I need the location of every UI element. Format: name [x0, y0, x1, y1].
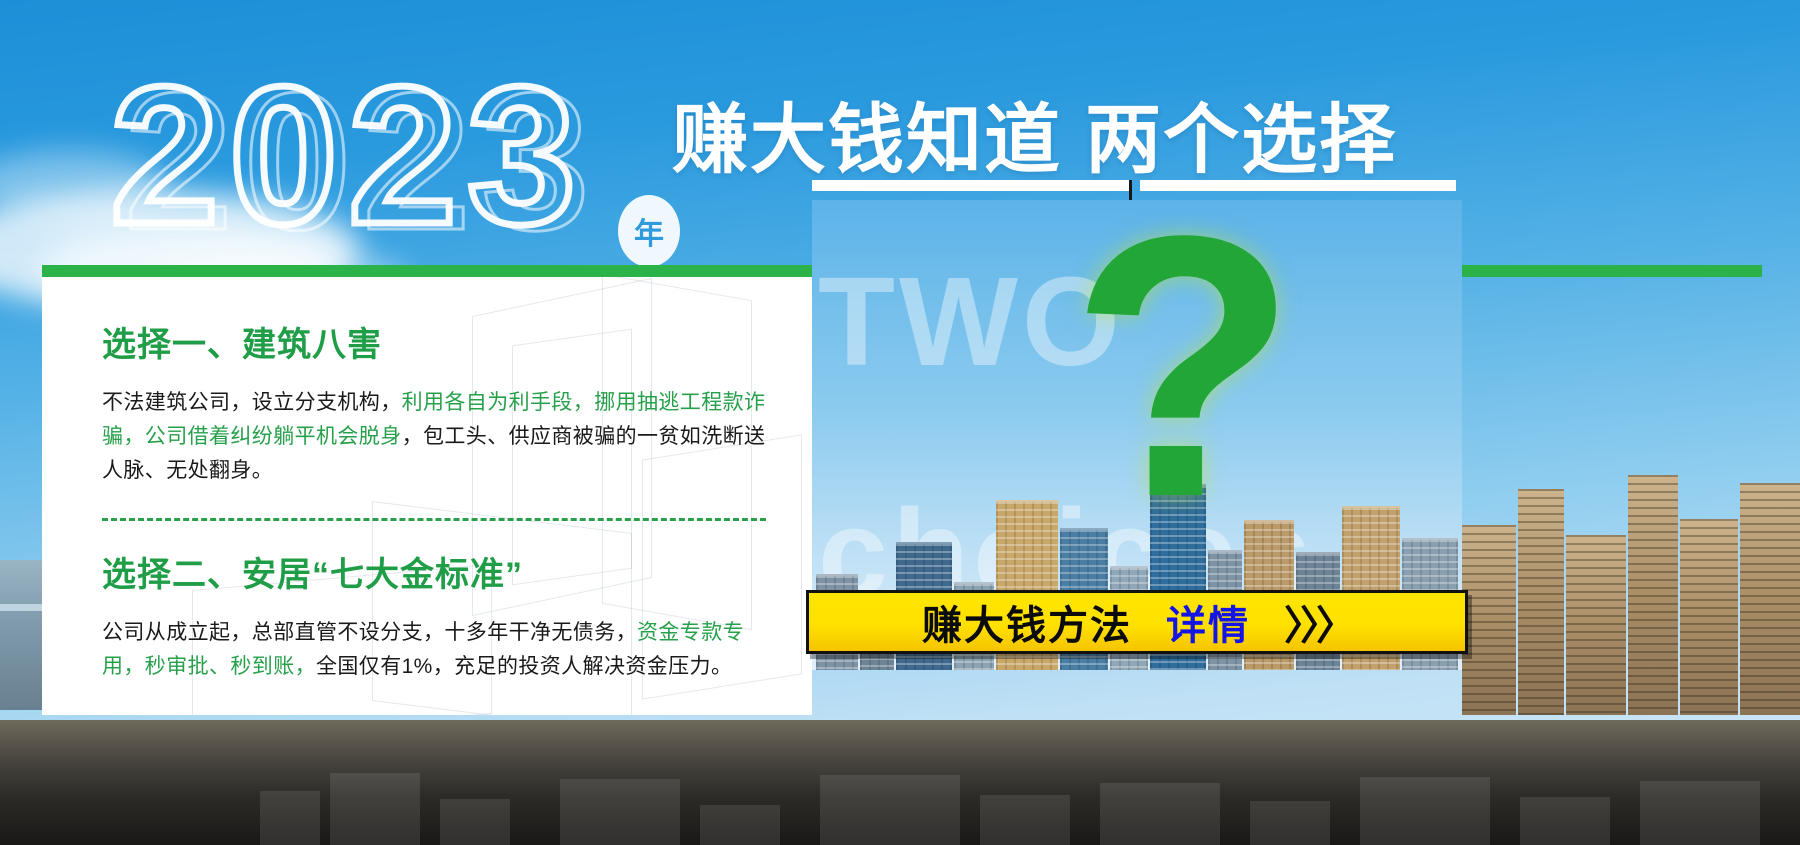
section-2-text-b: 全国仅有1%，充足的投资人解决资金压力。 [316, 655, 732, 678]
section-divider [102, 518, 766, 521]
cta-main-label: 赚大钱方法 [922, 593, 1132, 651]
strip-block [980, 795, 1070, 845]
strip-block [260, 791, 320, 845]
chevron-right-icon: 〉〉〉 [1284, 593, 1352, 651]
headline-rule-right [1140, 180, 1456, 191]
building [1628, 475, 1678, 715]
cta-detail-label: 详情 [1166, 593, 1250, 651]
strip-block [1360, 777, 1490, 845]
section-2-text-a: 公司从成立起，总部直管不设分支，十多年干净无债务， [102, 621, 637, 644]
building [1462, 525, 1516, 715]
bottom-strip [0, 720, 1800, 845]
building [1680, 519, 1738, 715]
strip-block [1640, 781, 1760, 845]
section-2-body: 公司从成立起，总部直管不设分支，十多年干净无债务，资金专款专用，秒审批、秒到账，… [102, 616, 766, 684]
strip-block [330, 773, 420, 845]
strip-block [560, 779, 680, 845]
strip-block [1100, 783, 1220, 845]
right-accent-bar [1462, 265, 1762, 277]
strip-block [1520, 797, 1610, 845]
strip-block [700, 805, 780, 845]
strip-block [440, 799, 510, 845]
card-content: 选择一、建筑八害 不法建筑公司，设立分支机构，利用各自为利手段，挪用抽逃工程款诈… [42, 265, 812, 684]
strip-blocks [0, 720, 1800, 845]
headline-rule-left [812, 180, 1130, 191]
strip-block [820, 775, 960, 845]
content-card: 选择一、建筑八害 不法建筑公司，设立分支机构，利用各自为利手段，挪用抽逃工程款诈… [42, 265, 812, 715]
cta-button[interactable]: 赚大钱方法 详情 〉〉〉 [806, 590, 1468, 654]
section-1-text-a: 不法建筑公司，设立分支机构， [102, 391, 402, 414]
building [1566, 535, 1626, 715]
section-1-body: 不法建筑公司，设立分支机构，利用各自为利手段，挪用抽逃工程款诈骗，公司借着纠纷躺… [102, 386, 766, 488]
section-2-title: 选择二、安居“七大金标准” [102, 547, 766, 596]
promo-banner: 2023 2023 年 赚大钱知道 两个选择 TWO choices ? [0, 0, 1800, 845]
page-title: 赚大钱知道 两个选择 [672, 78, 1397, 188]
year-unit-badge: 年 [618, 195, 680, 267]
section-1-title: 选择一、建筑八害 [102, 317, 766, 366]
strip-block [1250, 801, 1330, 845]
building [1518, 489, 1564, 715]
question-mark-icon: ? [1070, 218, 1297, 516]
year-ghost-outline: 2023 [124, 64, 600, 260]
building [1740, 483, 1800, 715]
right-city-strip [1462, 415, 1800, 715]
